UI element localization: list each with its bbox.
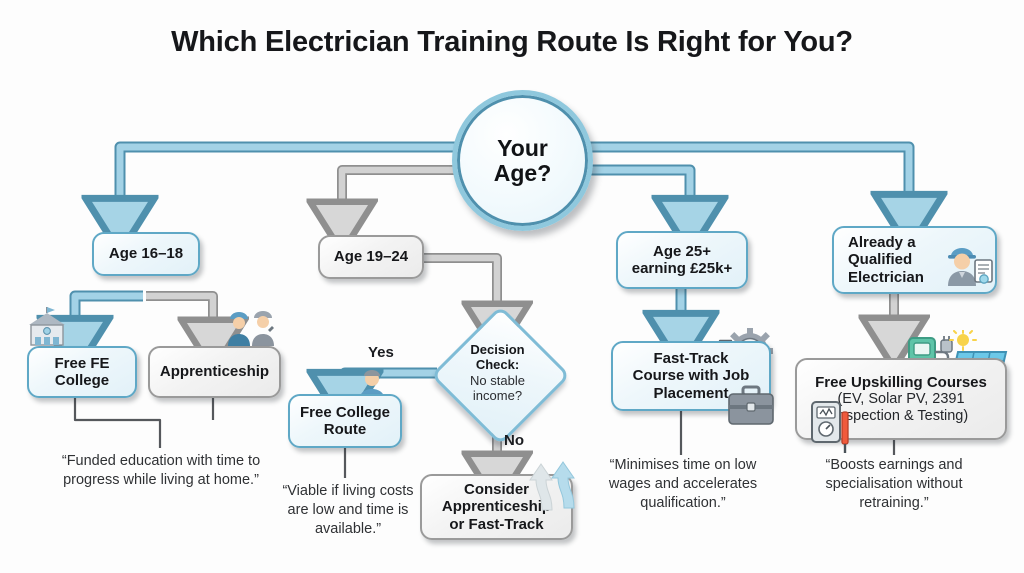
- node-apprenticeship-label: Apprenticeship: [160, 363, 269, 380]
- node-free-fe-college-line1: Free FE: [54, 355, 109, 372]
- school-icon: [22, 305, 72, 349]
- node-age-16-18-label: Age 16–18: [109, 245, 183, 262]
- root-label-line1: Your: [497, 136, 548, 161]
- node-fast-track-line2: Course with Job: [633, 367, 750, 384]
- node-free-college-route-line1: Free College: [300, 404, 390, 421]
- node-age-25-plus-line2: earning £25k+: [632, 260, 732, 277]
- node-free-college-route-line2: Route: [324, 421, 367, 438]
- node-upskilling-line2: (EV, Solar PV, 2391: [837, 391, 964, 408]
- root-decision-node[interactable]: Your Age?: [452, 90, 593, 231]
- electrician-icon: [937, 232, 995, 290]
- briefcase-icon: [726, 384, 776, 428]
- node-already-qualified-line1: Already a: [848, 234, 916, 251]
- node-age-19-24[interactable]: Age 19–24: [318, 235, 424, 279]
- decision-check-node[interactable]: Decision Check: No stable income?: [451, 326, 544, 419]
- decision-line3: No stable: [470, 373, 525, 388]
- flowchart-canvas: Which Electrician Training Route Is Righ…: [0, 0, 1024, 573]
- node-free-fe-college[interactable]: Free FE College: [27, 346, 137, 398]
- edge-label-yes: Yes: [368, 344, 394, 361]
- edge-label-no: No: [504, 432, 524, 449]
- node-age-25-plus-line1: Age 25+: [653, 243, 711, 260]
- quote-upskilling: “Boosts earnings and specialisation with…: [794, 456, 994, 513]
- workers-icon: [224, 306, 278, 348]
- multimeter-icon: [808, 398, 854, 456]
- node-already-qualified-line2: Qualified: [848, 251, 912, 268]
- node-fast-track-line3: Placement: [653, 385, 728, 402]
- quote-left: “Funded education with time to progress …: [48, 452, 274, 490]
- node-consider-line1: Consider: [464, 481, 529, 498]
- node-consider-line3: or Fast-Track: [449, 516, 543, 533]
- node-age-19-24-label: Age 19–24: [334, 248, 408, 265]
- quote-free-college: “Viable if living costs are low and time…: [270, 482, 426, 539]
- node-free-college-route[interactable]: Free College Route: [288, 394, 402, 448]
- node-age-25-plus[interactable]: Age 25+ earning £25k+: [616, 231, 748, 289]
- decision-line4: income?: [473, 388, 522, 403]
- node-fast-track-line1: Fast-Track: [653, 350, 728, 367]
- upward-arrows-icon: [528, 450, 580, 512]
- root-label-line2: Age?: [494, 161, 552, 186]
- quote-fast-track: “Minimises time on low wages and acceler…: [588, 456, 778, 513]
- node-apprenticeship[interactable]: Apprenticeship: [148, 346, 281, 398]
- decision-line2: Check:: [476, 357, 519, 372]
- node-age-16-18[interactable]: Age 16–18: [92, 232, 200, 276]
- decision-line1: Decision: [470, 342, 524, 357]
- node-upskilling-line1: Free Upskilling Courses: [815, 374, 987, 391]
- node-already-qualified-line3: Electrician: [848, 269, 924, 286]
- node-free-fe-college-line2: College: [55, 372, 109, 389]
- decision-check-text: Decision Check: No stable income?: [451, 326, 544, 419]
